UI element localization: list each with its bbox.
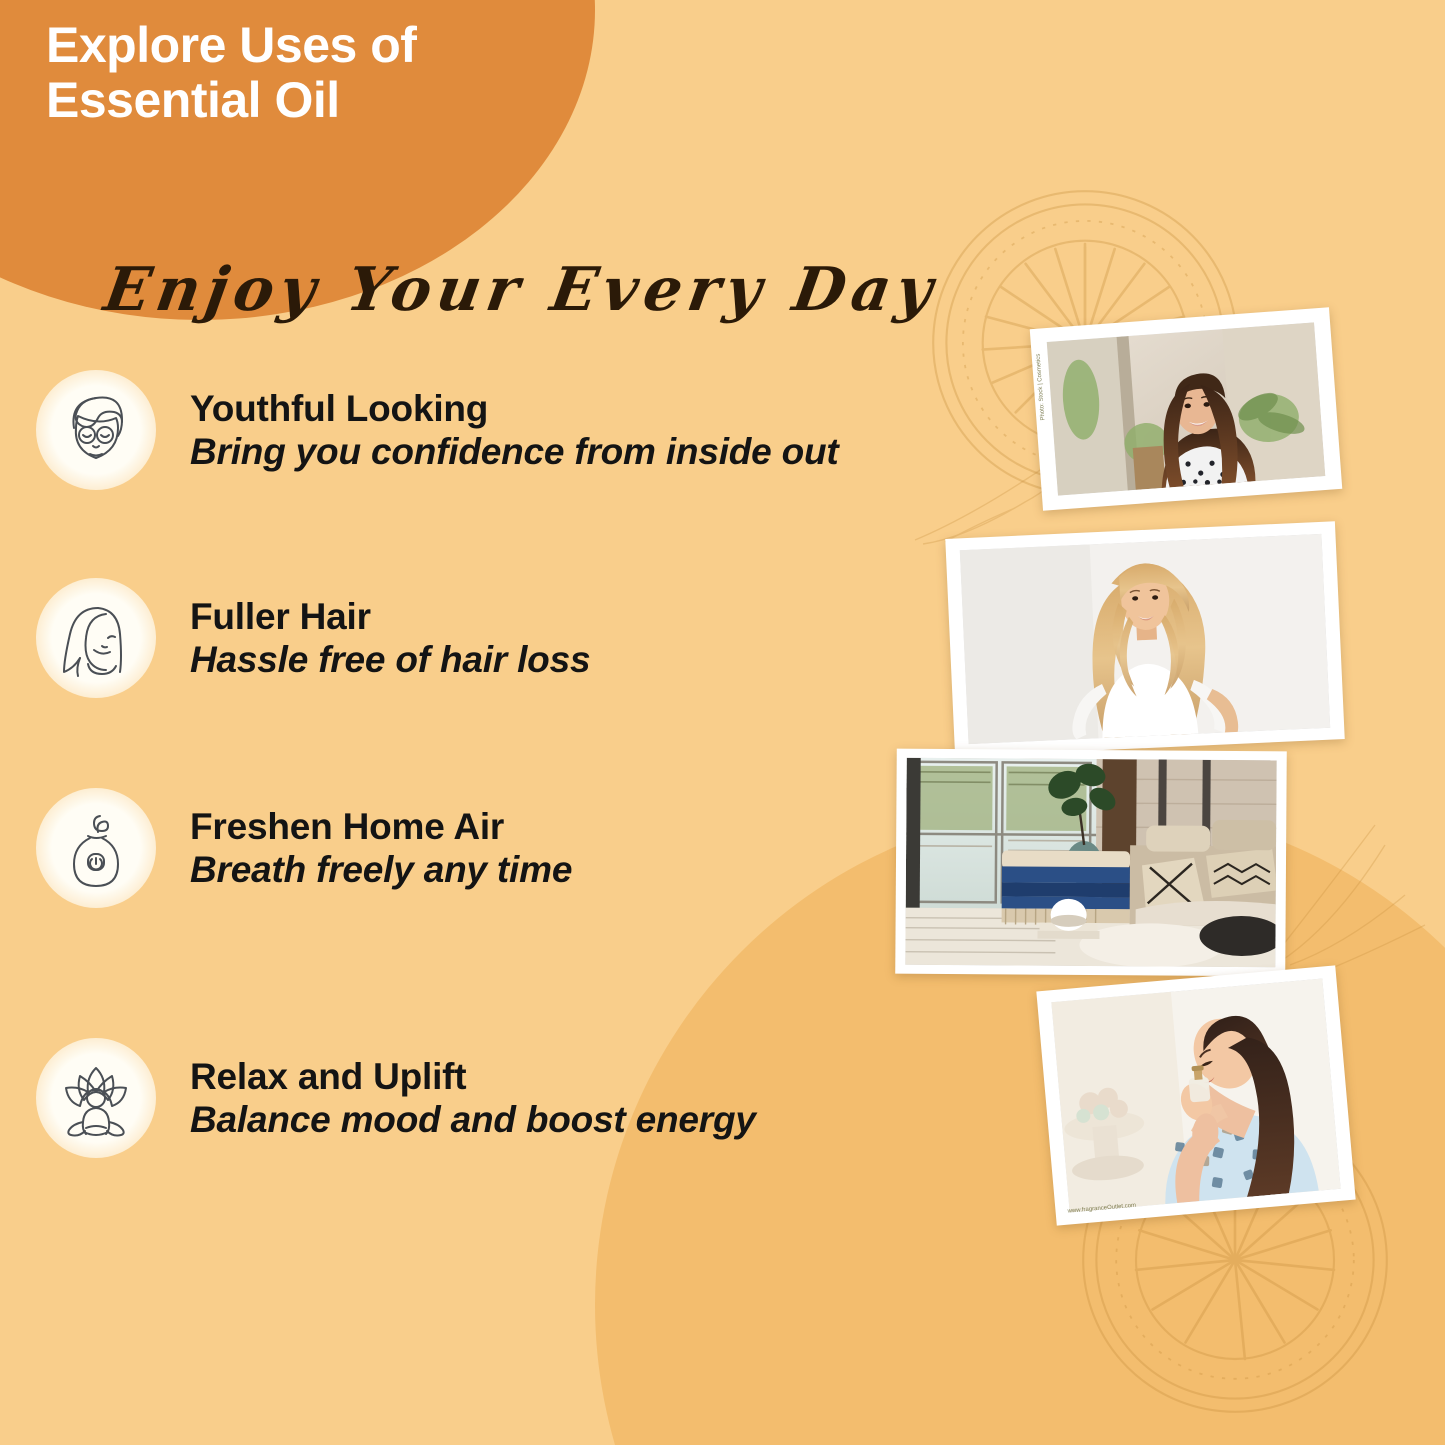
feature-title: Freshen Home Air [190,806,1040,847]
feature-title: Youthful Looking [190,388,1040,429]
feature-item-freshen-home-air[interactable]: Freshen Home Air Breath freely any time [0,773,1040,923]
feature-text-fuller-hair: Fuller Hair Hassle free of hair loss [184,596,1040,681]
infographic-canvas: Explore Uses of Essential Oil Enjoy Your… [0,0,1445,1445]
feature-text-relax-and-uplift: Relax and Uplift Balance mood and boost … [184,1056,1040,1141]
feature-item-youthful-looking[interactable]: Youthful Looking Bring you confidence fr… [0,355,1040,505]
feature-title: Relax and Uplift [190,1056,1040,1097]
aroma-diffuser-icon [36,788,156,908]
photo-smiling-woman: Photo: Stock | Cosmetics [1030,307,1343,510]
page-title-line-1: Explore Uses of [46,17,416,73]
facial-mask-face-icon [36,370,156,490]
photo-woman-perfume-image [1051,979,1340,1213]
feature-item-fuller-hair[interactable]: Fuller Hair Hassle free of hair loss [0,563,1040,713]
page-title-line-2: Essential Oil [46,73,606,128]
feature-subtitle: Hassle free of hair loss [190,639,1040,680]
feature-subtitle: Breath freely any time [190,849,1040,890]
tagline: Enjoy Your Every Day [99,255,870,325]
lotus-meditation-icon [36,1038,156,1158]
long-hair-profile-icon [36,578,156,698]
feature-subtitle: Balance mood and boost energy [190,1099,1040,1140]
photo-smiling-woman-image [1047,322,1326,495]
feature-title: Fuller Hair [190,596,1040,637]
feature-text-youthful-looking: Youthful Looking Bring you confidence fr… [184,388,1040,473]
photo-woman-perfume: www.fragranceOutlet.com [1036,965,1355,1225]
feature-text-freshen-home-air: Freshen Home Air Breath freely any time [184,806,1040,891]
page-title: Explore Uses of Essential Oil [46,18,606,128]
feature-subtitle: Bring you confidence from inside out [190,431,1040,472]
feature-item-relax-and-uplift[interactable]: Relax and Uplift Balance mood and boost … [0,1023,1040,1173]
